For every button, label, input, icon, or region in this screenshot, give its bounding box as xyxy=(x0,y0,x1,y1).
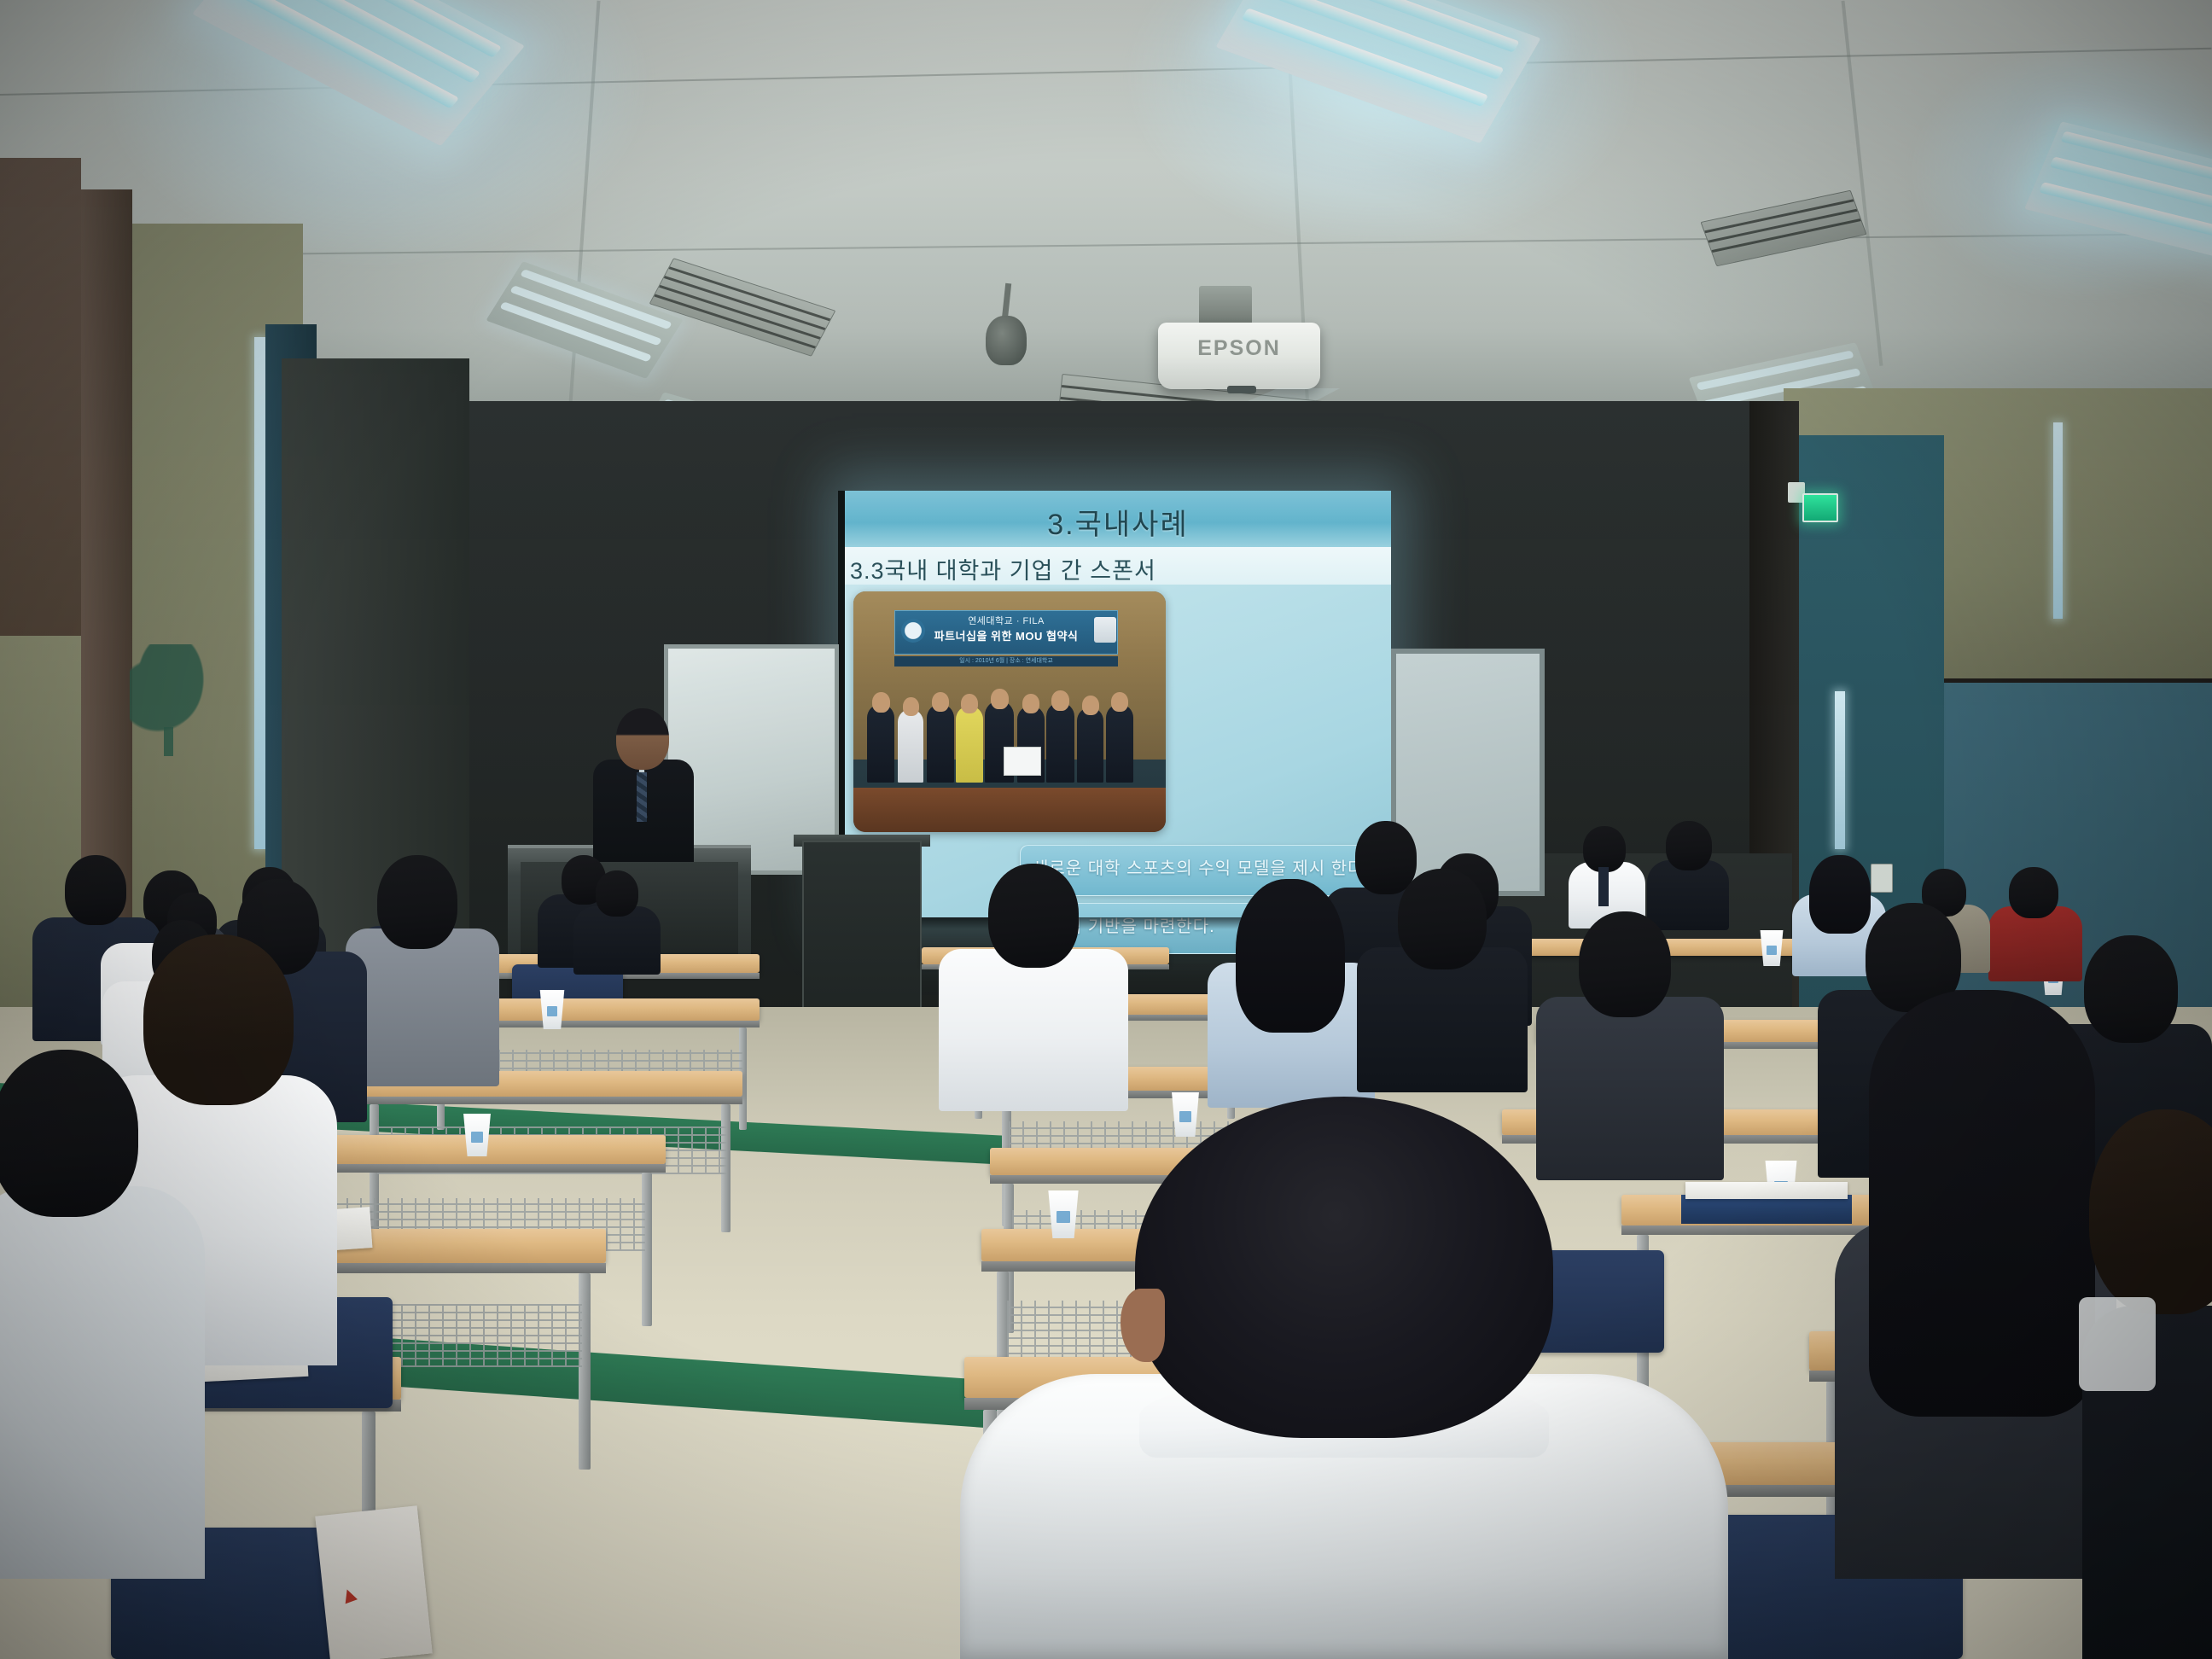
paper-bag: ▲ xyxy=(315,1505,433,1659)
banner-subline: 일시 : 2010년 6월 | 장소 : 연세대학교 xyxy=(894,656,1118,667)
projection-screen: 3.국내사례 3.3국내 대학과 기업 간 스폰서 연세대학교 · FILA 파… xyxy=(845,491,1391,917)
slide-photo-table xyxy=(853,788,1166,832)
projector-mount xyxy=(1199,286,1252,327)
banner-subline-text: 일시 : 2010년 6월 | 장소 : 연세대학교 xyxy=(894,656,1118,667)
projector-icon[interactable]: EPSON xyxy=(1158,323,1320,389)
paper-bag-logo: ▲ xyxy=(334,1578,364,1610)
slide-photo-head xyxy=(872,692,890,713)
presenter-tie xyxy=(637,772,647,822)
book-right-2 xyxy=(1685,1182,1848,1199)
window-slit-left xyxy=(254,337,265,849)
book-right-1 xyxy=(1681,1195,1852,1224)
fila-logo-icon xyxy=(1094,617,1116,643)
slide-title: 3.국내사례 xyxy=(845,501,1391,543)
ceiling-light-4 xyxy=(486,261,683,379)
slide-photo-banner: 연세대학교 · FILA 파트너십을 위한 MOU 협약식 xyxy=(894,610,1118,655)
ceiling-speaker-icon xyxy=(986,316,1027,365)
wall-outlet-right[interactable] xyxy=(1871,864,1893,893)
foreground-head xyxy=(1135,1097,1553,1438)
tree-decal-1 xyxy=(130,644,212,736)
presenter-head xyxy=(616,708,669,770)
university-logo-icon xyxy=(901,619,925,643)
seminar-room-photo: EPSON 3.국내사례 3.3국내 대학과 기업 간 스폰서 xyxy=(0,0,2212,1659)
exit-sign xyxy=(1802,493,1838,522)
banner-line-2: 파트너십을 위한 MOU 협약식 xyxy=(895,627,1117,643)
hvac-vent-3 xyxy=(1700,190,1866,267)
door-light-slit xyxy=(1835,691,1845,849)
mou-document xyxy=(1004,747,1041,776)
wall-panel-brown-upper xyxy=(0,158,81,636)
slide-photo: 연세대학교 · FILA 파트너십을 위한 MOU 협약식 일시 : 2010년… xyxy=(853,591,1166,832)
slide-callout-1-text: 새로운 대학 스포츠의 수익 모델을 제시 한다 xyxy=(1021,846,1377,879)
banner-line-1: 연세대학교 · FILA xyxy=(895,614,1117,627)
slide-subtitle: 3.3국내 대학과 기업 간 스폰서 xyxy=(850,552,1156,585)
slide-callout-1: 새로운 대학 스포츠의 수익 모델을 제시 한다 xyxy=(1020,845,1378,896)
projector-lens xyxy=(1227,386,1256,393)
hvac-vent-1 xyxy=(649,258,836,357)
projector-brand-label: EPSON xyxy=(1158,336,1320,361)
wall-light-slit-right xyxy=(2053,422,2063,619)
